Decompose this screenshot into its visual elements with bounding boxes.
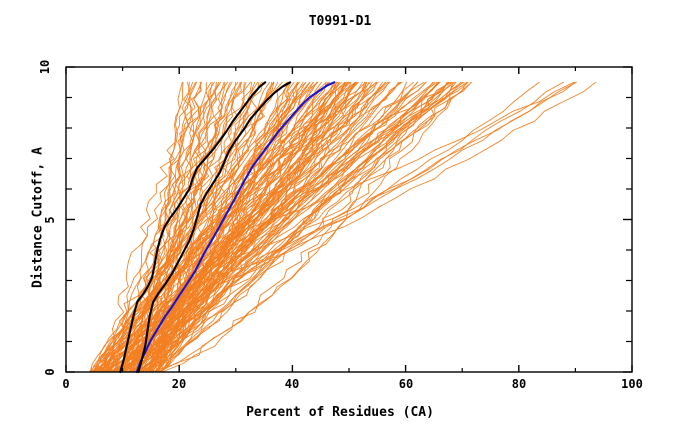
- x-axis-label: Percent of Residues (CA): [0, 405, 680, 420]
- plot-canvas: [0, 0, 680, 440]
- chart-figure: T0991-D1 Distance Cutoff, A Percent of R…: [0, 0, 680, 440]
- chart-title: T0991-D1: [0, 14, 680, 29]
- x-tick-label-40: 40: [272, 377, 312, 391]
- y-tick-label-0: 0: [43, 360, 57, 384]
- x-tick-label-100: 100: [612, 377, 652, 391]
- y-tick-label-5: 5: [43, 208, 57, 232]
- x-tick-label-60: 60: [386, 377, 426, 391]
- y-tick-label-10: 10: [38, 55, 52, 79]
- x-tick-label-80: 80: [499, 377, 539, 391]
- x-tick-label-20: 20: [159, 377, 199, 391]
